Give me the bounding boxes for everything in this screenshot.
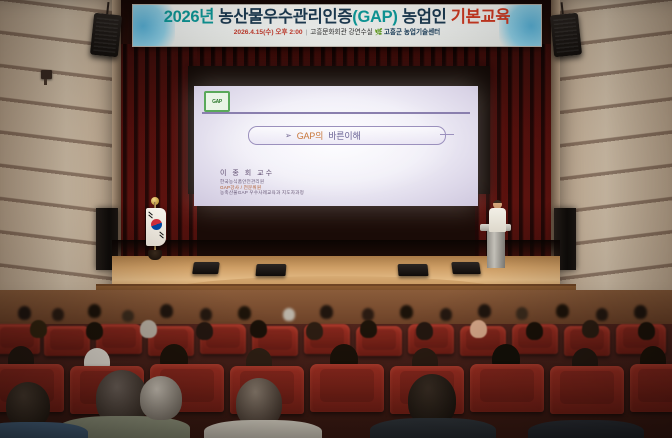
audience-shoulders-foreground [0,422,88,438]
taeguk-symbol-icon [151,219,162,230]
banner-organizer: 고흥군 농업기술센터 [384,29,440,36]
projection-screen: GAP ➢ GAP의 바른이해 이 종 회 교수 한국농식품안전관리원 GAP강… [194,86,478,206]
audience-head [86,322,103,340]
hall-rear-wall [0,290,672,324]
audience-head [160,304,173,318]
gap-logo-text: GAP [212,99,222,105]
audience-head [52,308,64,321]
speaker-grille [93,17,118,53]
banner-subtitle: 2026.4.15(수) 오후 2:00|고흥문화회관 강연수실 🌿고흥군 농업… [133,29,541,36]
lectern [487,228,505,268]
banner-title-training: 기본교육 [451,8,511,26]
theater-seat [470,364,544,412]
leaf-icon: 🌿 [373,29,383,36]
slide-header-rule [202,112,470,114]
slide-title-part2: 바른이해 [328,129,360,142]
slide-presenter-block: 이 종 회 교수 한국농식품안전관리원 GAP강사 / 전문위원 농축산물GAP… [220,170,304,196]
audience-head [360,320,377,338]
slide-title-pill: ➢ GAP의 바른이해 [248,126,446,145]
audience-shoulders-foreground [370,418,496,438]
presenter-figure [489,200,506,232]
audience-head [122,310,134,322]
audience-head [283,308,295,321]
audience-head [556,304,569,318]
audience-head [18,306,31,320]
audience-head [416,322,433,340]
flag-cloth [146,208,166,246]
presenter-org-line-3: 농축산물GAP 우수사례교육과 지도자과정 [220,190,304,196]
theater-seat [44,326,90,356]
audience-head [634,305,647,319]
theater-seat [310,364,384,412]
flag-stand-base [148,250,162,260]
audience-head-foreground [560,378,604,426]
audience-head [400,305,413,319]
floor-monitor-3 [397,264,428,276]
audience-head [440,308,452,321]
banner-title: 2026년 농산물우수관리인증(GAP) 농업인 기본교육 [133,8,541,26]
line-array-speaker-left [90,13,122,58]
audience-shoulders-foreground [204,420,322,438]
audience-head [582,320,599,338]
speaker-grille [553,17,578,53]
audience-head [516,307,528,320]
presenter-name: 이 종 회 교수 [220,170,304,179]
audience-head [30,320,47,338]
presenter-body [489,208,506,232]
banner-title-year: 2026년 [164,8,219,26]
audience-head-foreground [140,376,182,420]
audience-head [596,308,608,321]
audience-head [238,306,251,320]
theater-seat [630,364,672,412]
auditorium-photo: 2026년 농산물우수관리인증(GAP) 농업인 기본교육 2026.4.15(… [0,0,672,438]
floor-monitor-4 [451,262,481,274]
audience-head [250,320,267,338]
wall-mounted-sensor-icon [41,70,52,79]
audience-head [200,308,212,321]
audience-seating-area [0,290,672,438]
gap-logo-icon: GAP [204,91,230,112]
audience-shoulders-foreground [528,420,644,438]
audience-head [478,304,491,318]
banner-title-main: 농산물우수관리인증 [218,8,352,26]
chevron-right-icon: ➢ [285,131,292,140]
banner-date: 2026.4.15(수) 오후 2:00 [234,29,303,36]
banner-location: 고흥문화회관 강연수실 [310,29,373,36]
audience-head [320,305,333,319]
slide-title-underline [440,134,454,135]
korean-national-flag [142,202,170,268]
audience-head [88,304,101,318]
audience-head [306,322,323,340]
event-banner: 2026년 농산물우수관리인증(GAP) 농업인 기본교육 2026.4.15(… [132,4,542,47]
slide-title-part1: GAP의 [297,129,324,142]
line-array-speaker-right [550,13,582,58]
audience-head [526,322,543,340]
audience-head [140,320,157,338]
banner-title-farmer: 농업인 [398,8,451,26]
audience-head [638,322,655,340]
floor-monitor-2 [255,264,286,276]
audience-head [196,322,213,340]
floor-monitor-1 [192,262,220,274]
banner-separator: | [306,29,308,36]
banner-title-gap: (GAP) [352,8,397,26]
audience-head [470,320,487,338]
